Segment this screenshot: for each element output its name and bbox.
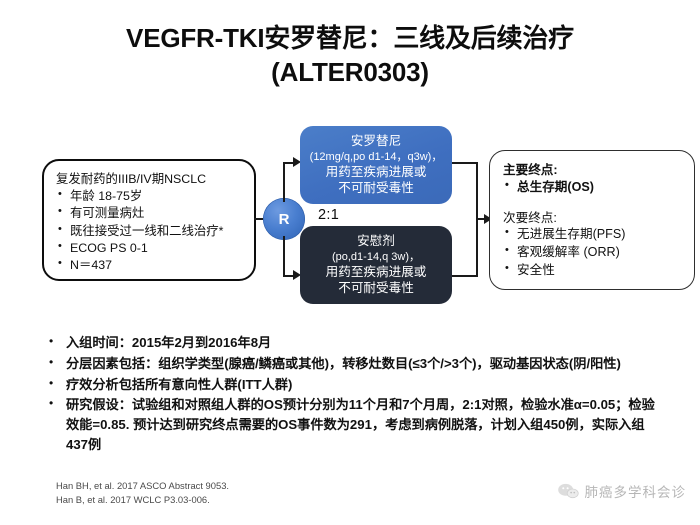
population-criteria-list: 年龄 18-75岁 有可测量病灶 既往接受过一线和二线治疗* ECOG PS 0… xyxy=(56,188,248,274)
treatment-arm-experimental: 安罗替尼 (12mg/q,po d1-14，q3w)， 用药至疾病进展或 不可耐… xyxy=(300,126,452,204)
citation-line: Han B, et al. 2017 WCLC P3.03-006. xyxy=(56,493,229,507)
randomization-label: R xyxy=(279,211,290,228)
list-item: 年龄 18-75岁 xyxy=(56,188,248,205)
citation-line: Han BH, et al. 2017 ASCO Abstract 9053. xyxy=(56,479,229,493)
slide-canvas: VEGFR-TKI安罗替尼：三线及后续治疗 (ALTER0303) 复发耐药的I… xyxy=(0,0,700,525)
population-heading: 复发耐药的IIIB/IV期NSCLC xyxy=(56,171,248,187)
arm-name: 安慰剂 xyxy=(300,233,452,249)
list-item: 研究假设：试验组和对照组人群的OS预计分别为11个月和7个月周，2:1对照，检验… xyxy=(44,395,660,454)
list-item: ECOG PS 0-1 xyxy=(56,240,248,257)
page-title: VEGFR-TKI安罗替尼：三线及后续治疗 (ALTER0303) xyxy=(0,22,700,90)
arm-duration-line-2: 不可耐受毒性 xyxy=(300,180,452,196)
list-item: 总生存期(OS) xyxy=(503,179,686,197)
arm-name: 安罗替尼 xyxy=(300,133,452,149)
list-item: 客观缓解率 (ORR) xyxy=(503,244,686,262)
list-item: 既往接受过一线和二线治疗* xyxy=(56,223,248,240)
randomization-ratio: 2:1 xyxy=(318,207,339,223)
list-item: 有可测量病灶 xyxy=(56,205,248,222)
watermark: 肺癌多学科会诊 xyxy=(557,481,687,501)
title-line-1: VEGFR-TKI安罗替尼：三线及后续治疗 xyxy=(126,23,574,53)
randomization-node: R xyxy=(263,198,305,240)
study-notes-list: 入组时间：2015年2月到2016年8月 分层因素包括：组织学类型(腺癌/鳞癌或… xyxy=(44,333,660,456)
primary-endpoint-heading: 主要终点: xyxy=(503,162,686,179)
treatment-arm-control: 安慰剂 (po,d1-14,q 3w)， 用药至疾病进展或 不可耐受毒性 xyxy=(300,226,452,304)
primary-endpoint-list: 总生存期(OS) xyxy=(503,179,686,197)
list-item: 无进展生存期(PFS) xyxy=(503,226,686,244)
list-item: N＝437 xyxy=(56,257,248,274)
arm-duration-line-1: 用药至疾病进展或 xyxy=(300,164,452,180)
connector-random-down xyxy=(283,236,285,277)
list-item: 安全性 xyxy=(503,262,686,280)
list-item: 分层因素包括：组织学类型(腺癌/鳞癌或其他)，转移灶数目(≤3个/>3个)，驱动… xyxy=(44,354,660,374)
connector-control-out xyxy=(452,275,478,277)
connector-random-up xyxy=(283,162,285,202)
endpoints-spacer xyxy=(503,197,686,210)
watermark-text: 肺癌多学科会诊 xyxy=(585,481,687,501)
population-box: 复发耐药的IIIB/IV期NSCLC 年龄 18-75岁 有可测量病灶 既往接受… xyxy=(42,159,256,281)
endpoints-box: 主要终点: 总生存期(OS) 次要终点: 无进展生存期(PFS) 客观缓解率 (… xyxy=(489,150,695,290)
list-item: 疗效分析包括所有意向性人群(ITT人群) xyxy=(44,375,660,395)
citations: Han BH, et al. 2017 ASCO Abstract 9053. … xyxy=(56,479,229,508)
chat-bubble-icon xyxy=(557,482,579,500)
secondary-endpoint-list: 无进展生存期(PFS) 客观缓解率 (ORR) 安全性 xyxy=(503,226,686,279)
arm-dose: (12mg/q,po d1-14，q3w)， xyxy=(300,150,452,164)
title-line-2: (ALTER0303) xyxy=(0,56,700,90)
arm-dose: (po,d1-14,q 3w)， xyxy=(300,250,452,264)
secondary-endpoint-heading: 次要终点: xyxy=(503,210,686,227)
arm-duration-line-2: 不可耐受毒性 xyxy=(300,280,452,296)
arm-duration-line-1: 用药至疾病进展或 xyxy=(300,264,452,280)
list-item: 入组时间：2015年2月到2016年8月 xyxy=(44,333,660,353)
connector-experimental-out xyxy=(452,162,478,164)
study-design-diagram: 复发耐药的IIIB/IV期NSCLC 年龄 18-75岁 有可测量病灶 既往接受… xyxy=(0,150,700,325)
